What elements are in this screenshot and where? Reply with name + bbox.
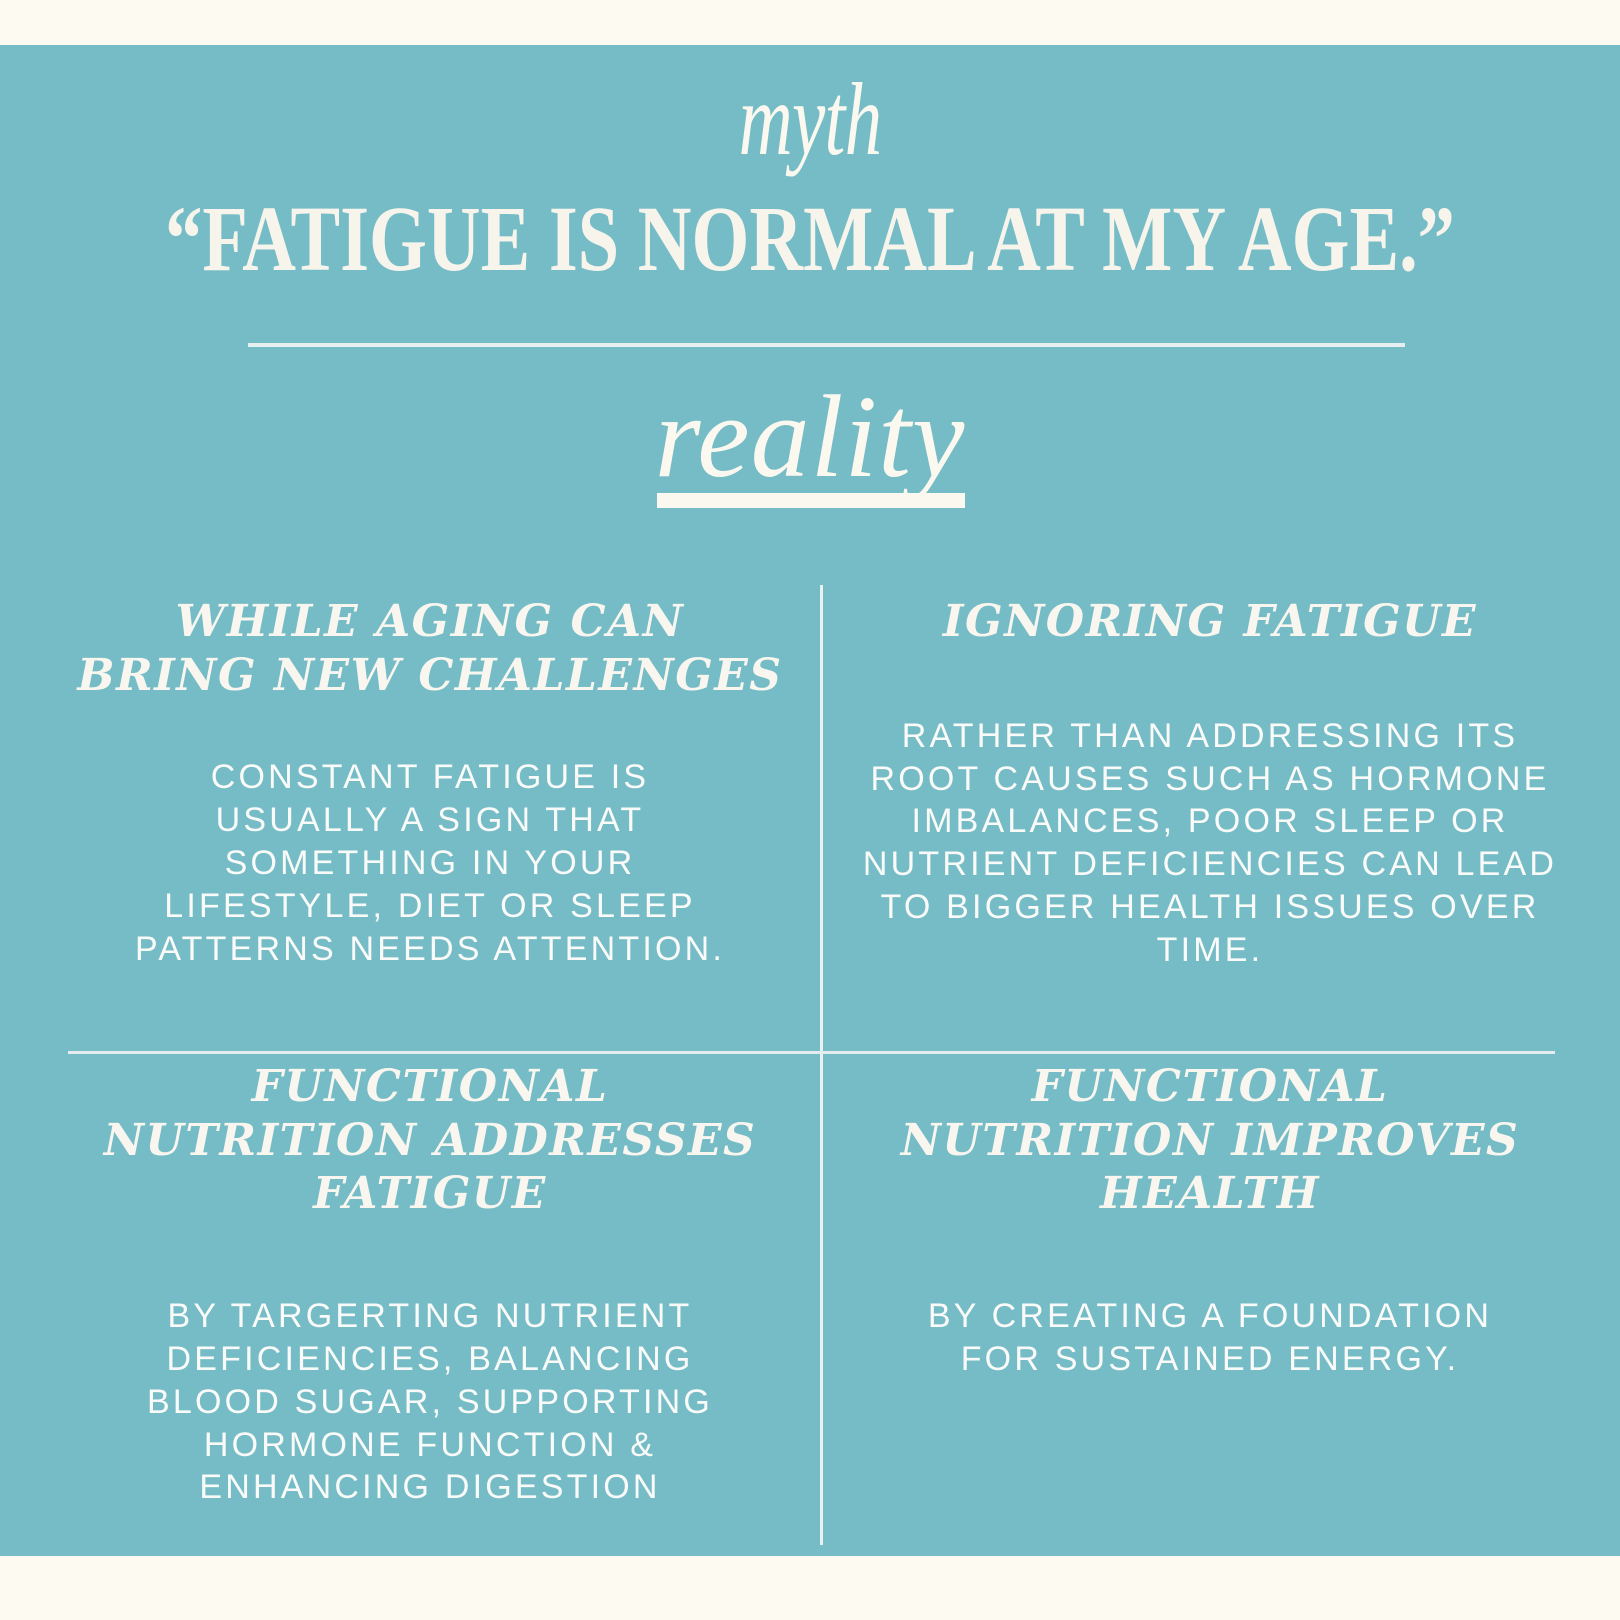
quadrant-heading: IGNORING FATIGUE [840, 595, 1580, 649]
quadrant-body: CONSTANT FATIGUE IS USUALLY A SIGN THAT … [60, 756, 800, 970]
header-divider-rule [248, 343, 1405, 347]
quadrant-ignoring-fatigue: IGNORING FATIGUE RATHER THAN ADDRESSING … [840, 595, 1580, 972]
myth-headline: “FATIGUE IS NORMAL AT MY AGE.” [162, 193, 1458, 288]
quadrant-body: RATHER THAN ADDRESSING ITS ROOT CAUSES S… [840, 715, 1580, 972]
quadrant-functional-nutrition-improves-health: FUNCTIONAL NUTRITION IMPROVES HEALTH BY … [840, 1060, 1580, 1381]
quadrant-body: BY CREATING A FOUNDATION FOR SUSTAINED E… [840, 1295, 1580, 1381]
quadrant-body: BY TARGERTING NUTRIENT DEFICIENCIES, BAL… [60, 1295, 800, 1509]
quadrant-heading: FUNCTIONAL NUTRITION IMPROVES HEALTH [840, 1060, 1580, 1221]
reality-script-label: reality [651, 378, 970, 514]
horizontal-grid-divider [68, 1051, 1555, 1054]
quadrant-functional-nutrition-addresses-fatigue: FUNCTIONAL NUTRITION ADDRESSES FATIGUE B… [60, 1060, 800, 1509]
quadrant-heading: WHILE AGING CAN BRING NEW CHALLENGES [60, 595, 800, 702]
quadrant-while-aging-can-bring-new-challenges: WHILE AGING CAN BRING NEW CHALLENGES CON… [60, 595, 800, 970]
myth-script-label: myth [227, 68, 1393, 172]
quadrant-heading: FUNCTIONAL NUTRITION ADDRESSES FATIGUE [60, 1060, 800, 1221]
vertical-grid-divider [820, 585, 823, 1545]
reality-label-container: reality [0, 378, 1620, 514]
infographic-canvas: myth “FATIGUE IS NORMAL AT MY AGE.” real… [0, 0, 1620, 1620]
